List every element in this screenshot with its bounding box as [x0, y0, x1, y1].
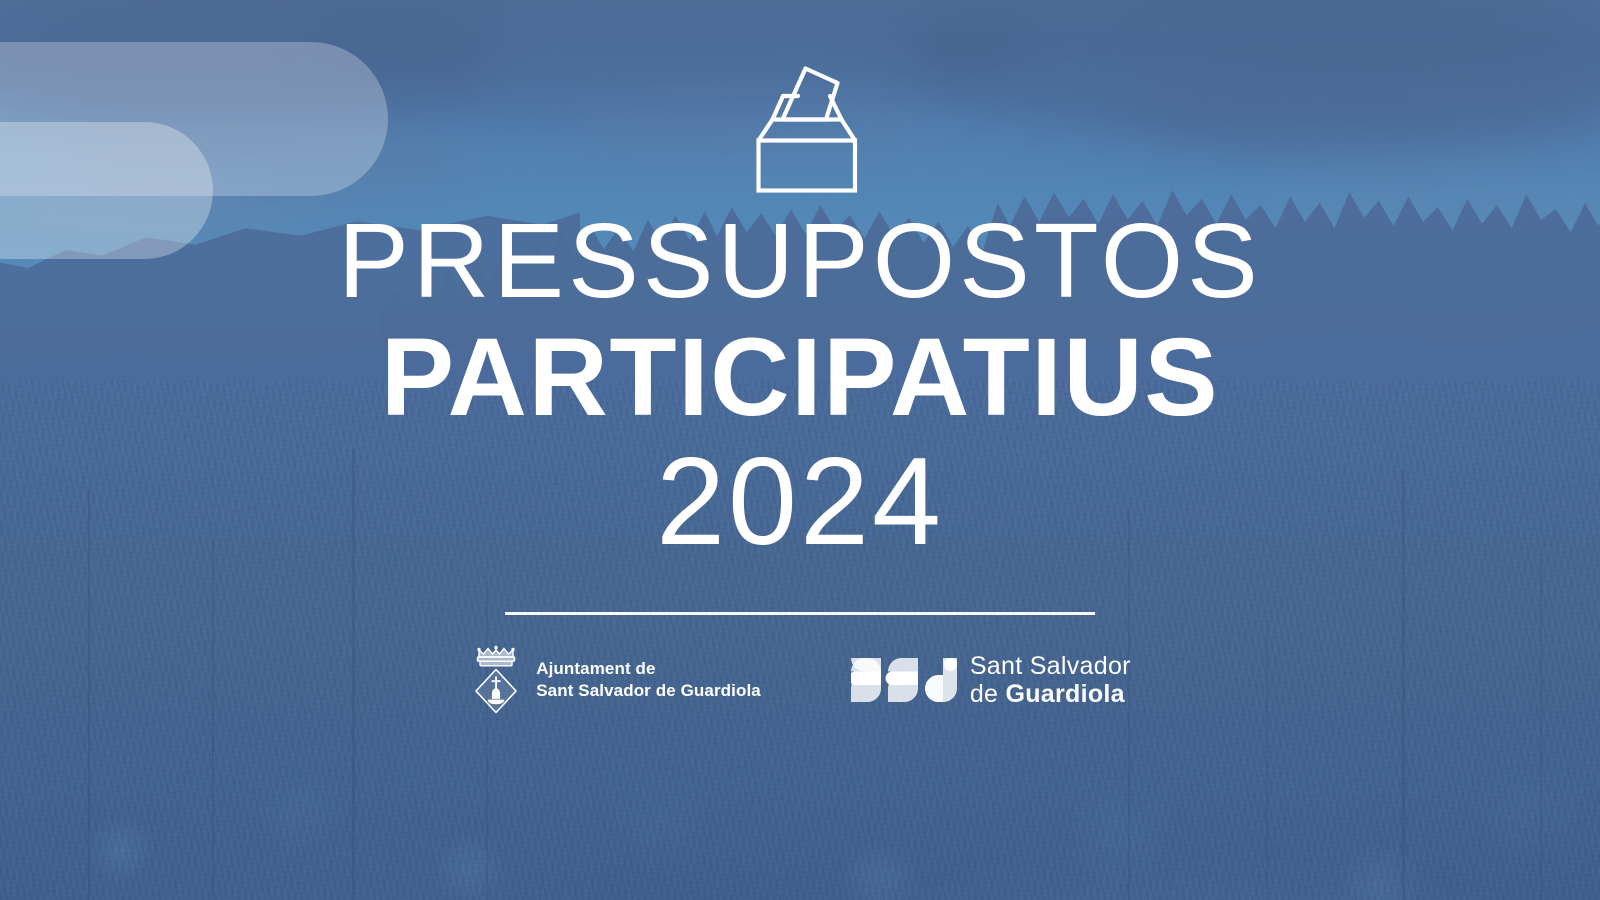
- ballot-box-icon: [742, 62, 858, 194]
- title-line-pressupostos: PRESSUPOSTOS: [0, 208, 1600, 314]
- ssg-line-2: de Guardiola: [970, 680, 1131, 708]
- headline-block: PRESSUPOSTOS PARTICIPATIUS 2024: [0, 208, 1600, 564]
- ajuntament-line-1: Ajuntament de: [536, 658, 761, 680]
- ajuntament-crest-icon: [469, 644, 523, 716]
- ssg-line-2-bold: Guardiola: [1005, 680, 1124, 708]
- ssg-line-2-light: de: [970, 680, 1006, 708]
- ajuntament-logo: Ajuntament de Sant Salvador de Guardiola: [469, 644, 761, 716]
- ssg-monogram-icon: [851, 658, 957, 702]
- ajuntament-logo-text: Ajuntament de Sant Salvador de Guardiola: [536, 658, 761, 702]
- logo-row: Ajuntament de Sant Salvador de Guardiola: [469, 644, 1131, 716]
- ssg-logo: Sant Salvador de Guardiola: [851, 652, 1131, 708]
- title-line-year: 2024: [0, 440, 1600, 564]
- ssg-logo-text: Sant Salvador de Guardiola: [970, 652, 1131, 708]
- horizontal-divider: [505, 612, 1095, 615]
- ajuntament-line-2: Sant Salvador de Guardiola: [536, 680, 761, 702]
- ssg-line-1: Sant Salvador: [970, 652, 1131, 680]
- poster-content: PRESSUPOSTOS PARTICIPATIUS 2024: [0, 0, 1600, 900]
- title-line-participatius: PARTICIPATIUS: [0, 322, 1600, 434]
- poster-canvas: PRESSUPOSTOS PARTICIPATIUS 2024: [0, 0, 1600, 900]
